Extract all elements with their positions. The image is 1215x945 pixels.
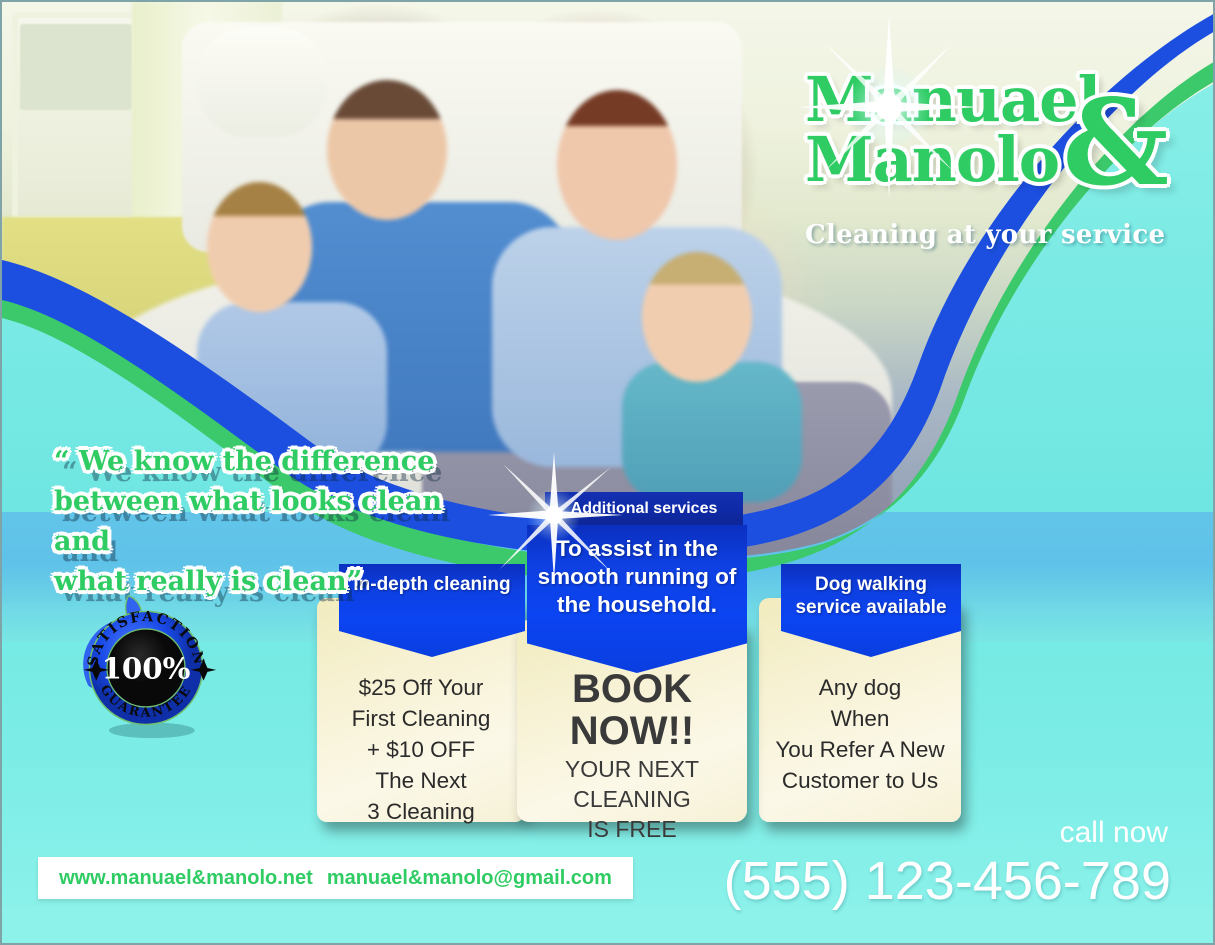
card-top-strip: Additional services [545,492,743,525]
service-card-in-depth-cleaning[interactable]: In-depth cleaning $25 Off Your First Cle… [317,564,525,822]
card-line: When [769,703,951,734]
photo-person-girl-head [207,182,312,312]
card-text: $25 Off Your First Cleaning + $10 OFF Th… [327,672,515,827]
card-line: The Next [327,765,515,796]
photo-shelf-inner [20,24,132,110]
card-headline: BOOK NOW!! [527,668,737,752]
card-line: Customer to Us [769,765,951,796]
badge-center-text: 100% [102,652,191,686]
email-link[interactable]: manuael&manolo@gmail.com [327,867,612,890]
quote-block: “ We know the difference between what lo… [54,442,484,602]
card-banner-label: To assist in the smooth running of the h… [535,535,739,619]
photo-sofa-arm [197,27,327,137]
card-line: YOUR NEXT [527,754,737,784]
brand-ampersand: & [1062,84,1169,202]
service-card-dog-walking[interactable]: Dog walking service available Any dog Wh… [759,564,961,822]
brand-logo: Manuael Manolo & Cleaning at your servic… [805,70,1175,250]
card-text: Any dog When You Refer A New Customer to… [769,672,951,796]
card-line: First Cleaning [327,703,515,734]
card-line: $25 Off Your [327,672,515,703]
photo-person-mother-head [557,90,677,240]
card-banner: To assist in the smooth running of the h… [527,525,747,673]
card-line: + $10 OFF [327,734,515,765]
website-link[interactable]: www.manuael&manolo.net [59,867,313,890]
card-text: BOOK NOW!! YOUR NEXT CLEANING IS FREE [527,668,737,844]
background-band-footer [2,907,1213,945]
photo-person-father-head [327,80,447,220]
card-line: Any dog [769,672,951,703]
card-line: CLEANING [527,784,737,814]
card-line: IS FREE [527,814,737,844]
call-now-label: call now [768,816,1168,850]
quote-line-2: between what looks clean and [54,482,484,562]
card-line: 3 Cleaning [327,796,515,827]
quote-line-1: “ We know the difference [54,442,484,482]
photo-person-boy-head [642,252,752,382]
satisfaction-guarantee-badge: SATISFACTION GUARANTEE 100% [68,588,224,744]
card-line: You Refer A New [769,734,951,765]
brand-tagline: Cleaning at your service [805,220,1175,250]
flyer-canvas: Manuael Manolo & Cleaning at your servic… [0,0,1215,945]
phone-number[interactable]: (555) 123-456-789 [651,850,1171,912]
card-top-strip-label: Additional services [571,500,718,518]
card-banner-label: Dog walking service available [791,573,951,619]
photo-person-boy-body [622,362,802,502]
contact-bar: www.manuael&manolo.net manuael&manolo@gm… [38,857,633,899]
service-card-additional-services[interactable]: Additional services To assist in the smo… [517,492,747,822]
